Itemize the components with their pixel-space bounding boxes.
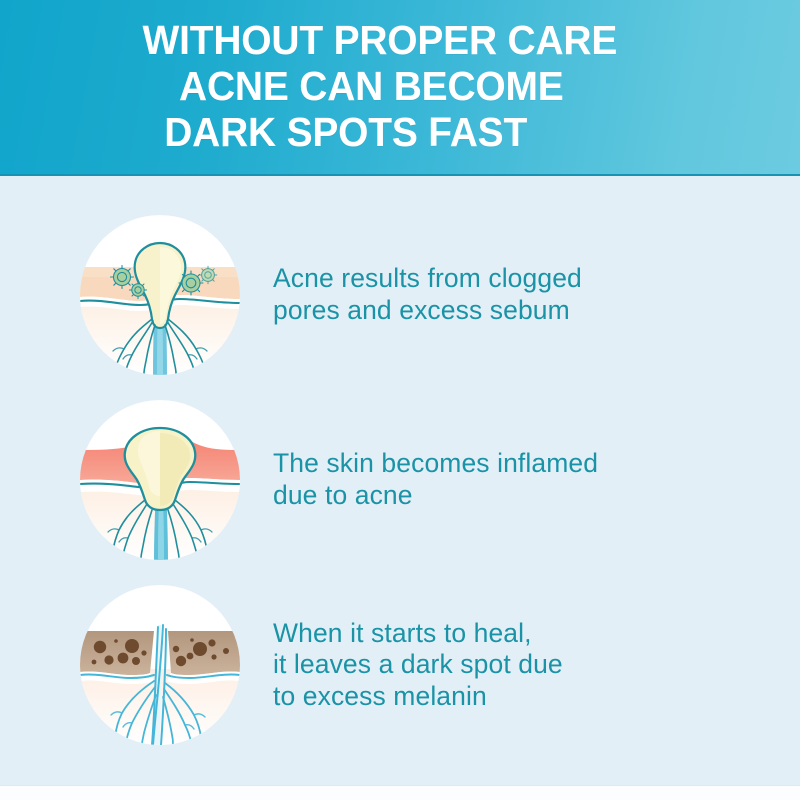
step-3-text: When it starts to heal, it leaves a dark…: [273, 618, 800, 713]
step-row-2: The skin becomes inflamed due to acne: [0, 392, 800, 568]
step-row-3: When it starts to heal, it leaves a dark…: [0, 577, 800, 753]
step-2-text-line-2: due to acne: [273, 480, 770, 512]
step-1-text: Acne results from clogged pores and exce…: [273, 263, 800, 326]
infographic-poster: WITHOUT PROPER CARE ACNE CAN BECOME DARK…: [0, 0, 800, 800]
step-1-text-line-2: pores and excess sebum: [273, 295, 770, 327]
step-2-text-line-1: The skin becomes inflamed: [273, 448, 770, 480]
step-3-text-line-1: When it starts to heal,: [273, 618, 770, 650]
page-title-line-3: DARK SPOTS FAST: [143, 110, 618, 156]
page-title: WITHOUT PROPER CARE ACNE CAN BECOME DARK…: [143, 18, 658, 156]
header-banner: WITHOUT PROPER CARE ACNE CAN BECOME DARK…: [0, 0, 800, 176]
step-1-text-line-1: Acne results from clogged: [273, 263, 770, 295]
step-row-1: Acne results from clogged pores and exce…: [0, 207, 800, 383]
step-3-text-line-3: to excess melanin: [273, 681, 770, 713]
dark-spot-melanin-illustration: [80, 585, 240, 745]
steps-list: Acne results from clogged pores and exce…: [0, 176, 800, 785]
inflamed-acne-lesion-illustration: [80, 400, 240, 560]
step-2-text: The skin becomes inflamed due to acne: [273, 448, 800, 511]
step-3-text-line-2: it leaves a dark spot due: [273, 649, 770, 681]
bottom-edge-strip: [0, 785, 800, 800]
page-title-line-1: WITHOUT PROPER CARE: [143, 18, 618, 64]
clogged-pore-with-bacteria-illustration: [80, 215, 240, 375]
page-title-line-2: ACNE CAN BECOME: [143, 64, 618, 110]
